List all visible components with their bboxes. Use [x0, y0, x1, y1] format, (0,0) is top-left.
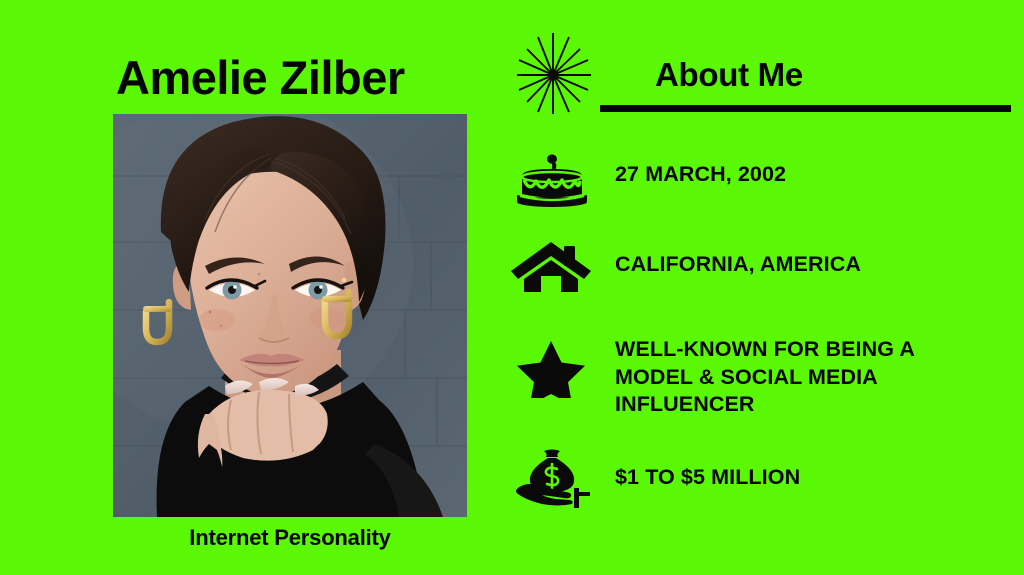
person-role-caption: Internet Personality — [113, 525, 467, 551]
portrait-photo — [113, 114, 467, 517]
starburst-icon — [511, 30, 595, 116]
info-text-location: CALIFORNIA, AMERICA — [615, 251, 861, 279]
info-text-birthday: 27 MARCH, 2002 — [615, 161, 786, 189]
star-icon — [508, 338, 594, 398]
portrait-illustration — [113, 114, 467, 517]
profile-slide: Amelie Zilber — [0, 0, 1024, 575]
money-bag-on-hand-icon — [508, 448, 594, 508]
about-heading: About Me — [655, 56, 803, 94]
birthday-cake-icon — [508, 150, 594, 210]
heading-divider — [600, 105, 1011, 112]
page-title: Amelie Zilber — [116, 53, 405, 102]
info-text-net-worth: $1 TO $5 MILLION — [615, 464, 800, 492]
info-text-known-for: WELL-KNOWN FOR BEING A MODEL & SOCIAL ME… — [615, 336, 915, 419]
house-icon — [508, 238, 594, 298]
